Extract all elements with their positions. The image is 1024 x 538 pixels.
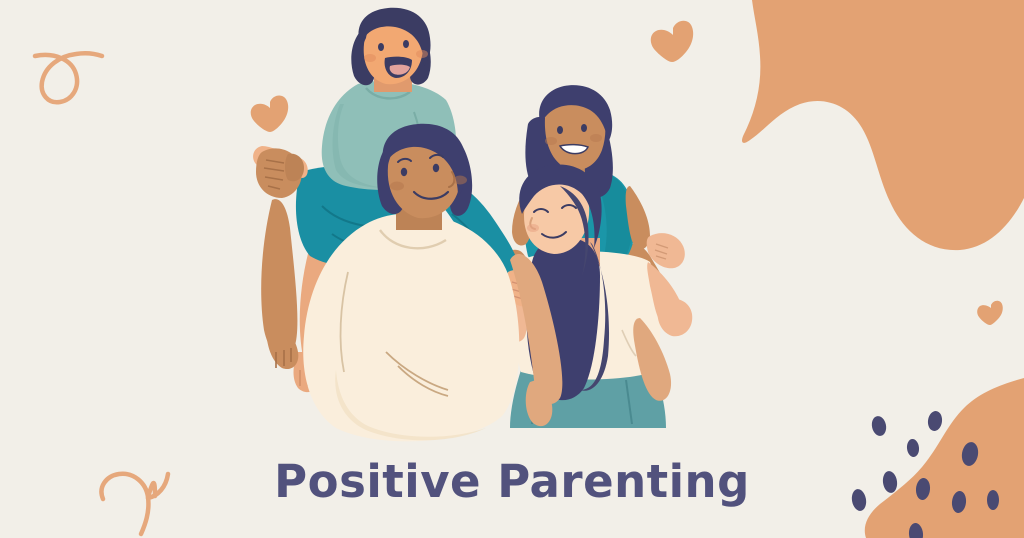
girl-cheek-left (545, 137, 557, 145)
boy-eye-left (378, 43, 384, 51)
father-hand-left-thumb (285, 154, 304, 182)
father-cheek-right (453, 176, 467, 185)
father-eye-right (433, 164, 439, 172)
poster-canvas: Positive Parenting (0, 0, 1024, 538)
boy-cheek-right (416, 50, 428, 58)
father-eye-left (401, 168, 407, 176)
mother-hand-clasp (658, 299, 693, 336)
mother-cheek (527, 224, 539, 232)
girl-cheek-right (590, 134, 602, 142)
boy-cheek-left (364, 54, 376, 62)
page-title: Positive Parenting (0, 455, 1024, 508)
father-cheek-left (390, 182, 404, 191)
girl-eye-left (557, 126, 563, 134)
girl-eye-right (581, 124, 587, 132)
boy-eye-right (403, 40, 409, 48)
